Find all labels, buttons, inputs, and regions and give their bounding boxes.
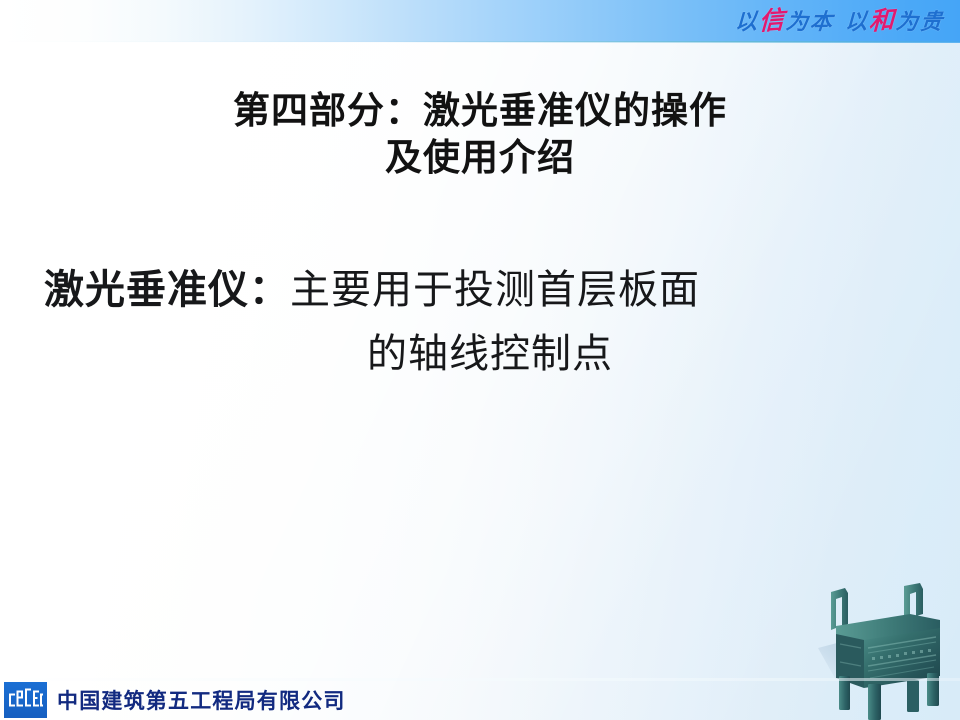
body-lead-term: 激光垂准仪： bbox=[44, 267, 290, 312]
slide-body-line-1: 激光垂准仪：主要用于投测首层板面 bbox=[44, 258, 916, 322]
top-banner-divider bbox=[0, 41, 960, 43]
motto-char: 以 bbox=[845, 10, 868, 33]
motto-char: 本 bbox=[809, 10, 833, 32]
ding-handle-right bbox=[904, 583, 923, 620]
presentation-slide: 以 信 为 本 以 和 为 贵 第四部分：激光垂准仪的操作 及使用介绍 激光垂准… bbox=[0, 0, 960, 720]
motto-char-accent: 信 bbox=[758, 8, 784, 35]
motto-char: 以 bbox=[734, 10, 757, 33]
motto-phrase-2: 以 和 为 贵 bbox=[845, 9, 942, 34]
slide-title: 第四部分：激光垂准仪的操作 及使用介绍 bbox=[0, 88, 960, 183]
motto-char: 为 bbox=[785, 10, 809, 33]
motto-phrase-1: 以 信 为 本 bbox=[735, 9, 832, 34]
slide-title-line-2: 及使用介绍 bbox=[0, 135, 960, 182]
cscec-logo-mark bbox=[9, 689, 43, 707]
slide-title-line-1: 第四部分：激光垂准仪的操作 bbox=[0, 88, 960, 135]
body-line-1-rest: 主要用于投测首层板面 bbox=[290, 267, 700, 312]
corporate-motto: 以 信 为 本 以 和 为 贵 bbox=[735, 3, 942, 39]
slide-body: 激光垂准仪：主要用于投测首层板面 的轴线控制点 bbox=[44, 258, 916, 386]
motto-char: 为 bbox=[895, 10, 919, 33]
slide-body-line-2: 的轴线控制点 bbox=[44, 322, 916, 386]
motto-char-accent: 和 bbox=[868, 8, 894, 35]
motto-char: 贵 bbox=[919, 10, 943, 32]
ding-handle-left bbox=[831, 588, 848, 630]
cscec-logo bbox=[4, 682, 47, 718]
footer-company-name: 中国建筑第五工程局有限公司 bbox=[57, 689, 346, 714]
